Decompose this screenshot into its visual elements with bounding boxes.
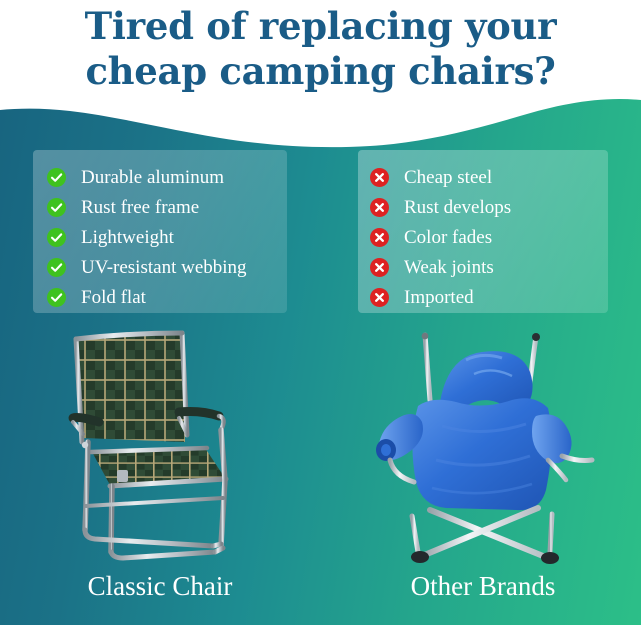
product-caption-other-brands: Other Brands: [358, 570, 608, 602]
feature-label: Durable aluminum: [81, 168, 224, 187]
feature-label: Fold flat: [81, 288, 146, 307]
list-item: Durable aluminum: [33, 162, 287, 192]
feature-label: Weak joints: [404, 258, 494, 277]
feature-label: Lightweight: [81, 228, 174, 247]
cross-circle-icon: [370, 288, 389, 307]
feature-panel-classic: Durable aluminum Rust free frame Lightwe…: [33, 150, 287, 313]
feature-panel-other-brands: Cheap steel Rust develops Color fades We…: [358, 150, 608, 313]
list-item: Weak joints: [358, 252, 608, 282]
cross-circle-icon: [370, 228, 389, 247]
feature-label: UV-resistant webbing: [81, 258, 247, 277]
list-item: UV-resistant webbing: [33, 252, 287, 282]
list-item: Cheap steel: [358, 162, 608, 192]
list-item: Fold flat: [33, 282, 287, 312]
list-item: Color fades: [358, 222, 608, 252]
headline-line-1: Tired of replacing your: [85, 4, 557, 48]
headline-line-2: cheap camping chairs?: [0, 49, 641, 94]
check-circle-icon: [47, 198, 66, 217]
list-item: Rust develops: [358, 192, 608, 222]
check-circle-icon: [47, 228, 66, 247]
feature-label: Rust free frame: [81, 198, 199, 217]
product-image-classic-chair: [55, 330, 275, 565]
infographic-root: Tired of replacing your cheap camping ch…: [0, 0, 641, 625]
check-circle-icon: [47, 168, 66, 187]
cross-circle-icon: [370, 198, 389, 217]
list-item: Imported: [358, 282, 608, 312]
list-item: Lightweight: [33, 222, 287, 252]
product-image-other-brands-chair: [370, 330, 600, 565]
feature-label: Imported: [404, 288, 474, 307]
page-title: Tired of replacing your cheap camping ch…: [0, 4, 641, 94]
feature-label: Color fades: [404, 228, 492, 247]
check-circle-icon: [47, 288, 66, 307]
cross-circle-icon: [370, 168, 389, 187]
feature-label: Rust develops: [404, 198, 511, 217]
cross-circle-icon: [370, 258, 389, 277]
check-circle-icon: [47, 258, 66, 277]
feature-label: Cheap steel: [404, 168, 492, 187]
product-caption-classic: Classic Chair: [33, 570, 287, 602]
list-item: Rust free frame: [33, 192, 287, 222]
